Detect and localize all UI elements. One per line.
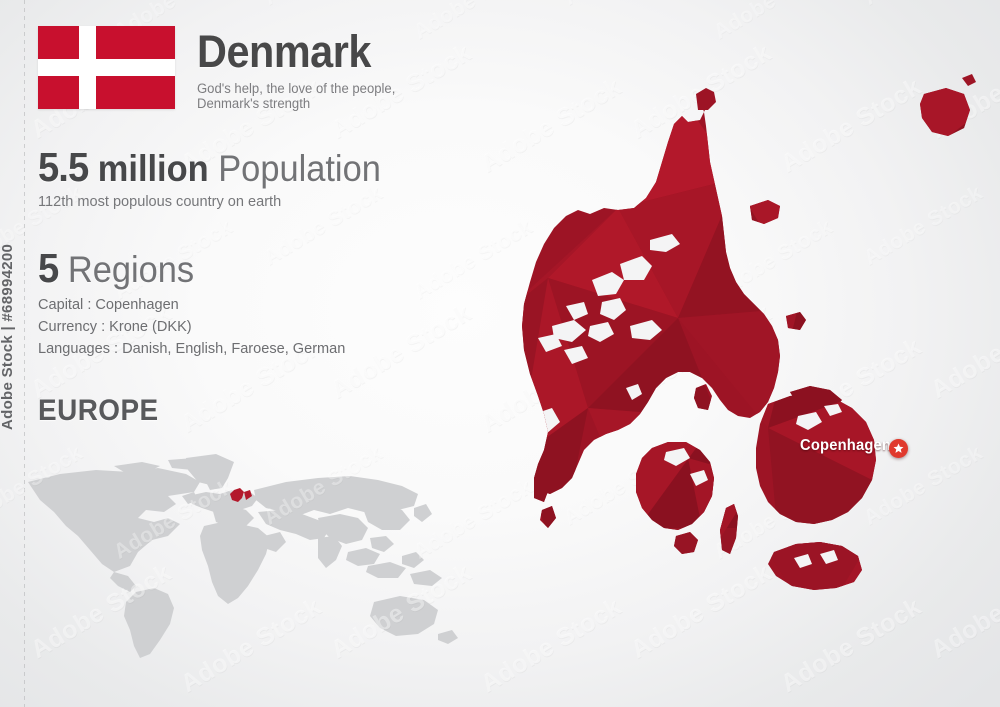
info-panel: Denmark God's help, the love of the peop… bbox=[38, 26, 458, 428]
watermark-text: Adobe Stock bbox=[260, 0, 387, 11]
regions-count: 5 bbox=[38, 245, 58, 291]
watermark-text: Adobe Stock bbox=[0, 0, 87, 11]
world-locator-map bbox=[18, 452, 468, 662]
infographic-canvas: Copenhagen Denmark God's help, the love … bbox=[0, 0, 1000, 707]
denmark-map bbox=[438, 58, 1000, 658]
detail-currency: Currency : Krone (DKK) bbox=[38, 316, 445, 338]
star-marker-icon bbox=[889, 439, 908, 458]
watermark-text: Adobe Stock bbox=[560, 0, 687, 11]
denmark-flag-icon bbox=[38, 26, 175, 109]
country-header: Denmark God's help, the love of the peop… bbox=[38, 26, 458, 111]
population-rank-note: 112th most populous country on earth bbox=[38, 193, 445, 210]
regions-heading: 5 Regions bbox=[38, 248, 429, 290]
country-details: Capital : Copenhagen Currency : Krone (D… bbox=[38, 294, 458, 361]
detail-capital: Capital : Copenhagen bbox=[38, 294, 445, 316]
flag-cross-horizontal bbox=[38, 59, 175, 76]
population-unit: million bbox=[98, 148, 209, 189]
detail-languages: Languages : Danish, English, Faroese, Ge… bbox=[38, 338, 445, 360]
regions-label: Regions bbox=[68, 249, 194, 290]
denmark-landmass bbox=[438, 58, 1000, 658]
regions-stat: 5 Regions Capital : Copenhagen Currency … bbox=[38, 248, 458, 360]
country-motto: God's help, the love of the people, Denm… bbox=[197, 81, 450, 111]
world-landmasses bbox=[28, 454, 458, 658]
population-stat: 5.5 million Population 112th most populo… bbox=[38, 147, 458, 210]
continent-label: EUROPE bbox=[38, 394, 429, 428]
stock-credit: Adobe Stock | #68994200 bbox=[0, 244, 16, 430]
population-heading: 5.5 million Population bbox=[38, 147, 429, 189]
population-value: 5.5 bbox=[38, 144, 88, 190]
population-label: Population bbox=[218, 148, 381, 189]
country-name: Denmark bbox=[197, 30, 437, 74]
watermark-text: Adobe Stock bbox=[860, 0, 987, 11]
capital-label: Copenhagen bbox=[800, 437, 891, 455]
watermark-text: Adobe Stock bbox=[710, 0, 837, 45]
